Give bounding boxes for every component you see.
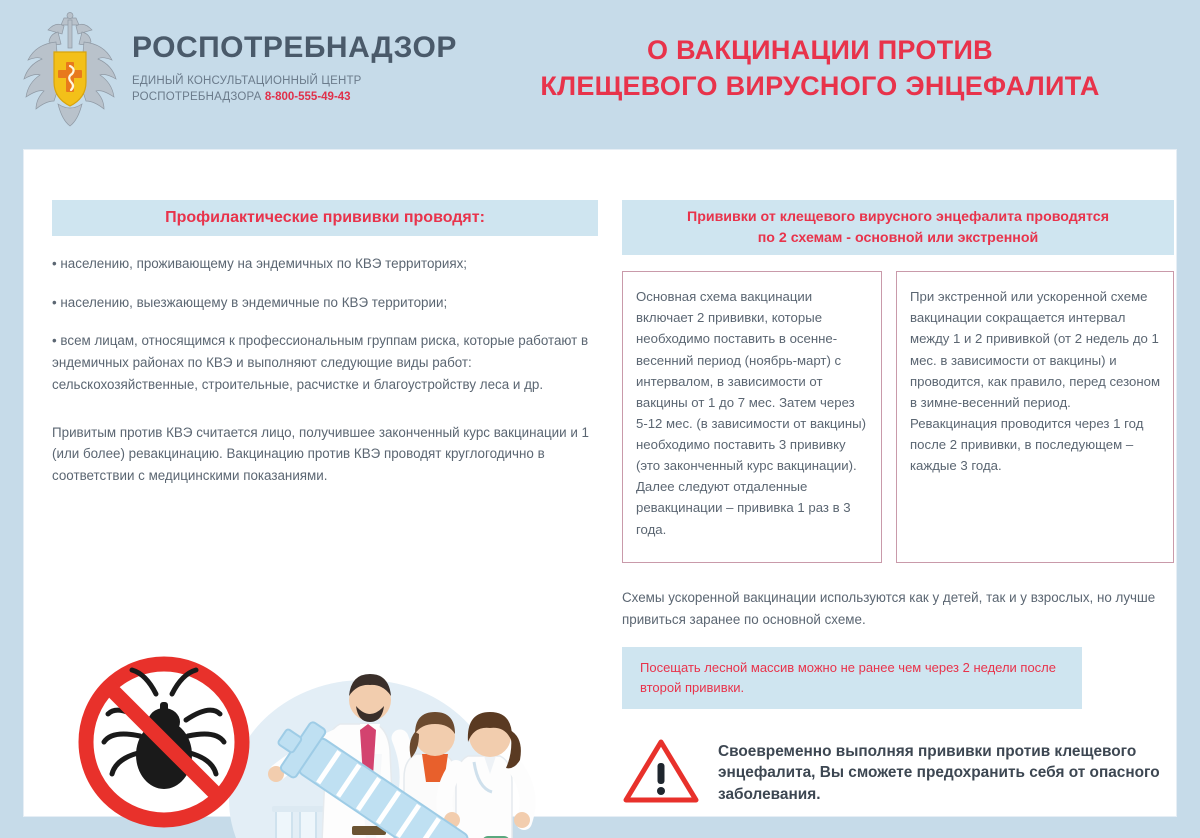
list-item: • всем лицам, относящимся к профессионал… — [52, 330, 598, 395]
forest-visit-note: Посещать лесной массив можно не ранее че… — [622, 647, 1082, 709]
brand-subtitle-line1: ЕДИНЫЙ КОНСУЛЬТАЦИОННЫЙ ЦЕНТР — [132, 73, 472, 90]
hotline-phone: 8-800-555-49-43 — [265, 91, 351, 103]
content-panel: Профилактические прививки проводят: • на… — [24, 150, 1176, 816]
illustration-group — [64, 650, 594, 838]
page-title-line1: О ВАКЦИНАЦИИ ПРОТИВ — [490, 33, 1150, 69]
scheme-box-basic: Основная схема вакцинации включает 2 при… — [622, 271, 882, 563]
scheme-box-emergency: При экстренной или ускоренной схеме вакц… — [896, 271, 1174, 563]
poster-header: РОСПОТРЕБНАДЗОР ЕДИНЫЙ КОНСУЛЬТАЦИОННЫЙ … — [0, 0, 1200, 150]
list-item: • населению, проживающему на эндемичных … — [52, 253, 598, 275]
brand-subtitle-line2: РОСПОТРЕБНАДЗОРА 8-800-555-49-43 — [132, 89, 472, 106]
brand-block: РОСПОТРЕБНАДЗОР ЕДИНЫЙ КОНСУЛЬТАЦИОННЫЙ … — [132, 32, 472, 106]
brand-subtitle: ЕДИНЫЙ КОНСУЛЬТАЦИОННЫЙ ЦЕНТР РОСПОТРЕБН… — [132, 73, 472, 106]
warning-triangle-icon — [622, 737, 700, 810]
warning-callout: Своевременно выполняя прививки против кл… — [622, 737, 1174, 810]
accelerated-scheme-note: Схемы ускоренной вакцинации используются… — [622, 587, 1174, 630]
right-column: Прививки от клещевого вирусного энцефали… — [622, 200, 1174, 810]
left-section-heading: Профилактические прививки проводят: — [52, 200, 598, 236]
left-column: Профилактические прививки проводят: • на… — [52, 200, 598, 487]
scheme-boxes: Основная схема вакцинации включает 2 при… — [622, 271, 1174, 563]
brand-subtitle-org: РОСПОТРЕБНАДЗОРА — [132, 91, 261, 103]
no-tick-prohibition-icon — [86, 664, 242, 820]
page-title-line2: КЛЕЩЕВОГО ВИРУСНОГО ЭНЦЕФАЛИТА — [490, 69, 1150, 105]
poster-root: РОСПОТРЕБНАДЗОР ЕДИНЫЙ КОНСУЛЬТАЦИОННЫЙ … — [0, 0, 1200, 838]
page-title: О ВАКЦИНАЦИИ ПРОТИВ КЛЕЩЕВОГО ВИРУСНОГО … — [490, 33, 1150, 104]
list-item: • населению, выезжающему в эндемичные по… — [52, 292, 598, 314]
right-section-heading-line1: Прививки от клещевого вирусного энцефали… — [632, 207, 1164, 228]
vaccination-status-note: Привитым против КВЭ считается лицо, полу… — [52, 422, 598, 487]
brand-name: РОСПОТРЕБНАДЗОР — [132, 32, 472, 64]
right-section-heading-line2: по 2 схемам - основной или экстренной — [632, 228, 1164, 249]
right-section-heading: Прививки от клещевого вирусного энцефали… — [622, 200, 1174, 255]
rospotrebnadzor-eagle-emblem — [18, 12, 122, 134]
warning-message: Своевременно выполняя прививки против кл… — [718, 741, 1174, 807]
